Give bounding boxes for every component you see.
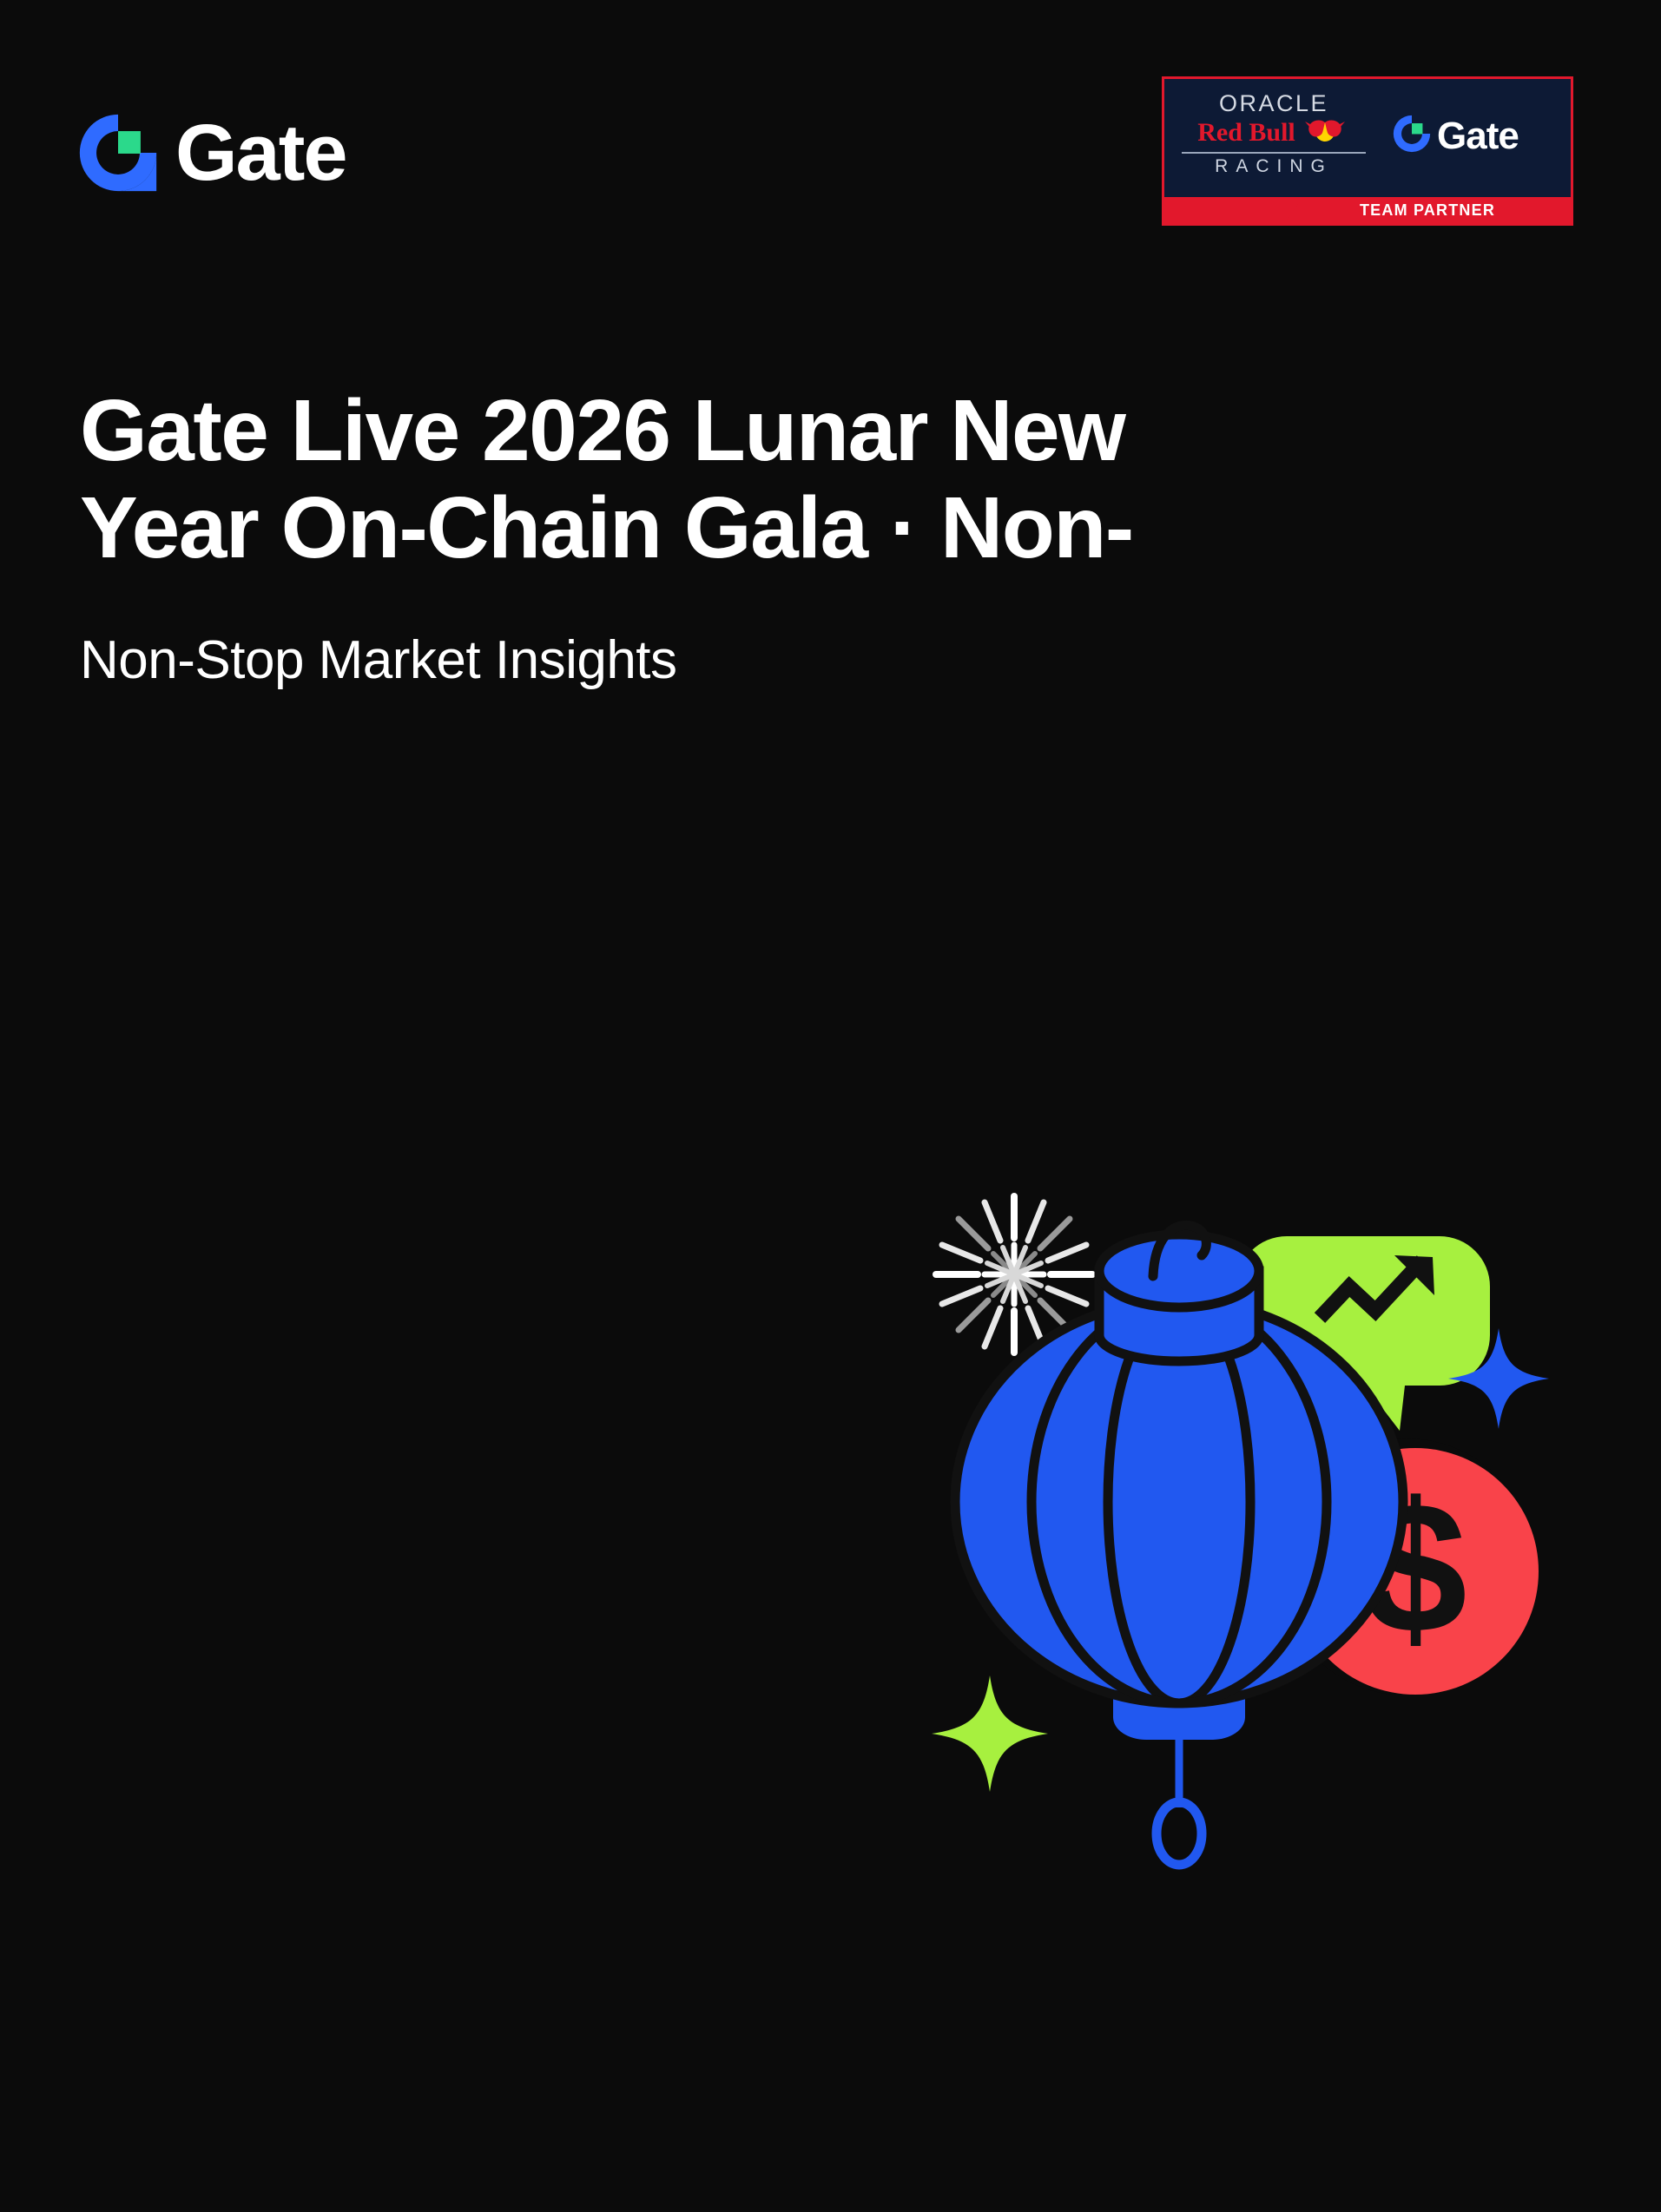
badge-gate-logo: Gate <box>1392 114 1519 158</box>
red-bull-racing-lockup: ORACLE Red Bull RACING <box>1178 91 1369 175</box>
oracle-wordmark: ORACLE <box>1178 91 1369 115</box>
gate-logo-icon <box>1392 114 1432 158</box>
oracle-red-bull-racing-team-partner-badge: ORACLE Red Bull RACING <box>1162 76 1573 226</box>
hero-title-block: Gate Live 2026 Lunar New Year On-Chain G… <box>80 382 1504 693</box>
brand-logo[interactable]: Gate <box>76 111 346 194</box>
badge-divider <box>1182 152 1366 154</box>
page-title-line-1: Gate Live 2026 Lunar New <box>80 382 1504 479</box>
lunar-new-year-lantern-illustration: $ <box>877 1129 1658 1875</box>
page-subtitle: Non-Stop Market Insights <box>80 629 1504 693</box>
page-title-line-2: Year On-Chain Gala · Non- <box>80 479 1504 576</box>
poster-canvas: Gate ORACLE Red Bull <box>0 0 1661 2212</box>
sparkle-star-green-icon <box>932 1675 1048 1792</box>
badge-gate-wordmark: Gate <box>1437 117 1519 155</box>
racing-wordmark: RACING <box>1178 157 1369 175</box>
gate-logo-icon <box>76 111 160 194</box>
red-bull-wordmark: Red Bull <box>1197 120 1295 146</box>
red-bull-icon <box>1300 117 1350 148</box>
gate-wordmark: Gate <box>175 113 346 193</box>
team-partner-banner: TEAM PARTNER <box>1284 197 1571 223</box>
